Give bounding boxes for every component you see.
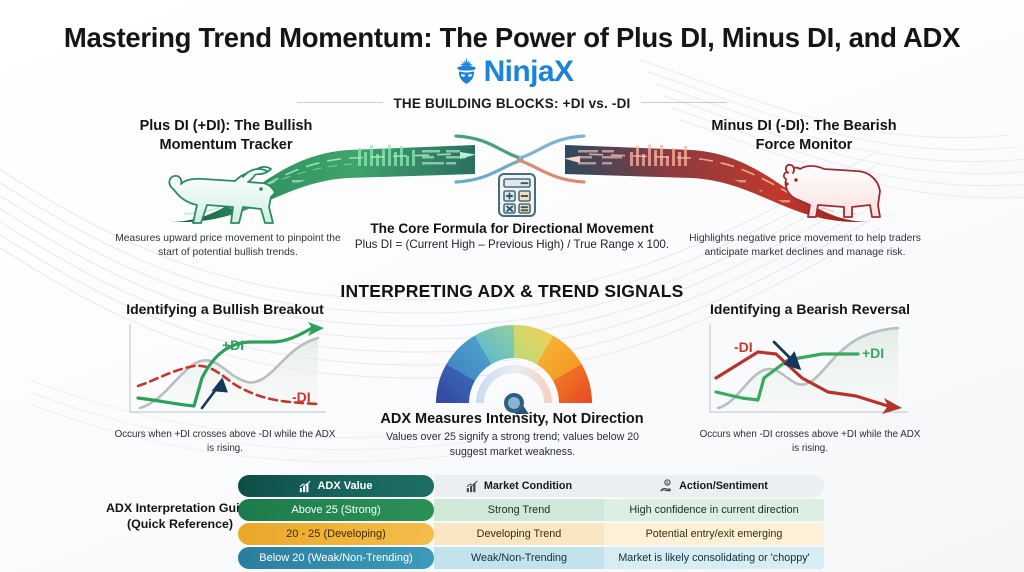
table-row: Above 25 (Strong) Strong Trend High conf… xyxy=(238,499,824,521)
right-panel-caption: Occurs when -DI crosses above +DI while … xyxy=(695,428,925,455)
table-header-action-sentiment: $ Action/Sentiment xyxy=(604,475,824,497)
bull-icon xyxy=(157,163,291,235)
left-chart-minus-label: -DI xyxy=(292,389,311,405)
left-chart-plus-label: +DI xyxy=(222,337,244,353)
infographic-root: Mastering Trend Momentum: The Power of P… xyxy=(0,0,1024,572)
section-label-text: THE BUILDING BLOCKS: +DI vs. -DI xyxy=(393,96,630,111)
row-adx-value: 20 - 25 (Developing) xyxy=(238,523,434,545)
table-header-adx-value-text: ADX Value xyxy=(317,480,372,492)
row-market-condition: Developing Trend xyxy=(434,523,604,545)
row-action-sentiment: High confidence in current direction xyxy=(604,499,824,521)
bullish-breakout-chart: +DI -DI xyxy=(122,320,332,422)
svg-text:$: $ xyxy=(667,481,669,485)
bar-chart-icon xyxy=(466,480,479,493)
table-header-action-sentiment-text: Action/Sentiment xyxy=(679,480,768,492)
row-market-condition: Strong Trend xyxy=(434,499,604,521)
bear-icon xyxy=(782,163,886,225)
bearish-reversal-chart: -DI +DI xyxy=(702,320,914,422)
brand-name-part1: Ninja xyxy=(484,55,554,88)
rule-right xyxy=(641,102,727,103)
formula-body: Plus DI = (Current High – Previous High)… xyxy=(292,238,732,251)
row-action-sentiment: Market is likely consolidating or 'chopp… xyxy=(604,547,824,569)
speedometer-icon xyxy=(424,311,604,414)
section-label-building-blocks: THE BUILDING BLOCKS: +DI vs. -DI xyxy=(0,96,1024,111)
left-panel-title: Identifying a Bullish Breakout xyxy=(100,301,350,317)
brand-logo: NinjaX xyxy=(0,56,1024,87)
left-panel-caption: Occurs when +DI crosses above -DI while … xyxy=(110,428,340,455)
table-header-market-condition-text: Market Condition xyxy=(484,480,572,492)
gauge-caption: Values over 25 signify a strong trend; v… xyxy=(380,430,645,460)
brand-name-part2: X xyxy=(554,55,573,88)
calculator-icon xyxy=(495,172,539,218)
table-header-row: ADX Value Market Condition $ Action/Sent… xyxy=(238,475,824,497)
table-header-adx-value: ADX Value xyxy=(238,475,434,497)
left-block-heading: Plus DI (+DI): The Bullish Momentum Trac… xyxy=(112,117,340,155)
rule-left xyxy=(297,102,383,103)
table-row: Below 20 (Weak/Non-Trending) Weak/Non-Tr… xyxy=(238,547,824,569)
adx-interpretation-table: ADX Value Market Condition $ Action/Sent… xyxy=(238,475,824,571)
section-label-adx: INTERPRETING ADX & TREND SIGNALS xyxy=(0,281,1024,302)
page-title: Mastering Trend Momentum: The Power of P… xyxy=(0,22,1024,54)
row-market-condition: Weak/Non-Trending xyxy=(434,547,604,569)
hand-coin-icon: $ xyxy=(660,479,674,493)
table-header-market-condition: Market Condition xyxy=(434,475,604,497)
row-adx-value: Above 25 (Strong) xyxy=(238,499,434,521)
right-block-heading: Minus DI (-DI): The Bearish Force Monito… xyxy=(690,117,918,155)
gauge-heading: ADX Measures Intensity, Not Direction xyxy=(362,411,662,427)
formula-heading: The Core Formula for Directional Movemen… xyxy=(312,221,712,236)
ninja-mask-icon xyxy=(451,56,482,87)
right-chart-minus-label: -DI xyxy=(734,339,753,355)
right-panel-title: Identifying a Bearish Reversal xyxy=(685,301,935,317)
bar-chart-icon xyxy=(299,480,312,493)
row-adx-value: Below 20 (Weak/Non-Trending) xyxy=(238,547,434,569)
brand-name: NinjaX xyxy=(484,57,574,87)
table-row: 20 - 25 (Developing) Developing Trend Po… xyxy=(238,523,824,545)
row-action-sentiment: Potential entry/exit emerging xyxy=(604,523,824,545)
right-chart-plus-label: +DI xyxy=(862,345,884,361)
